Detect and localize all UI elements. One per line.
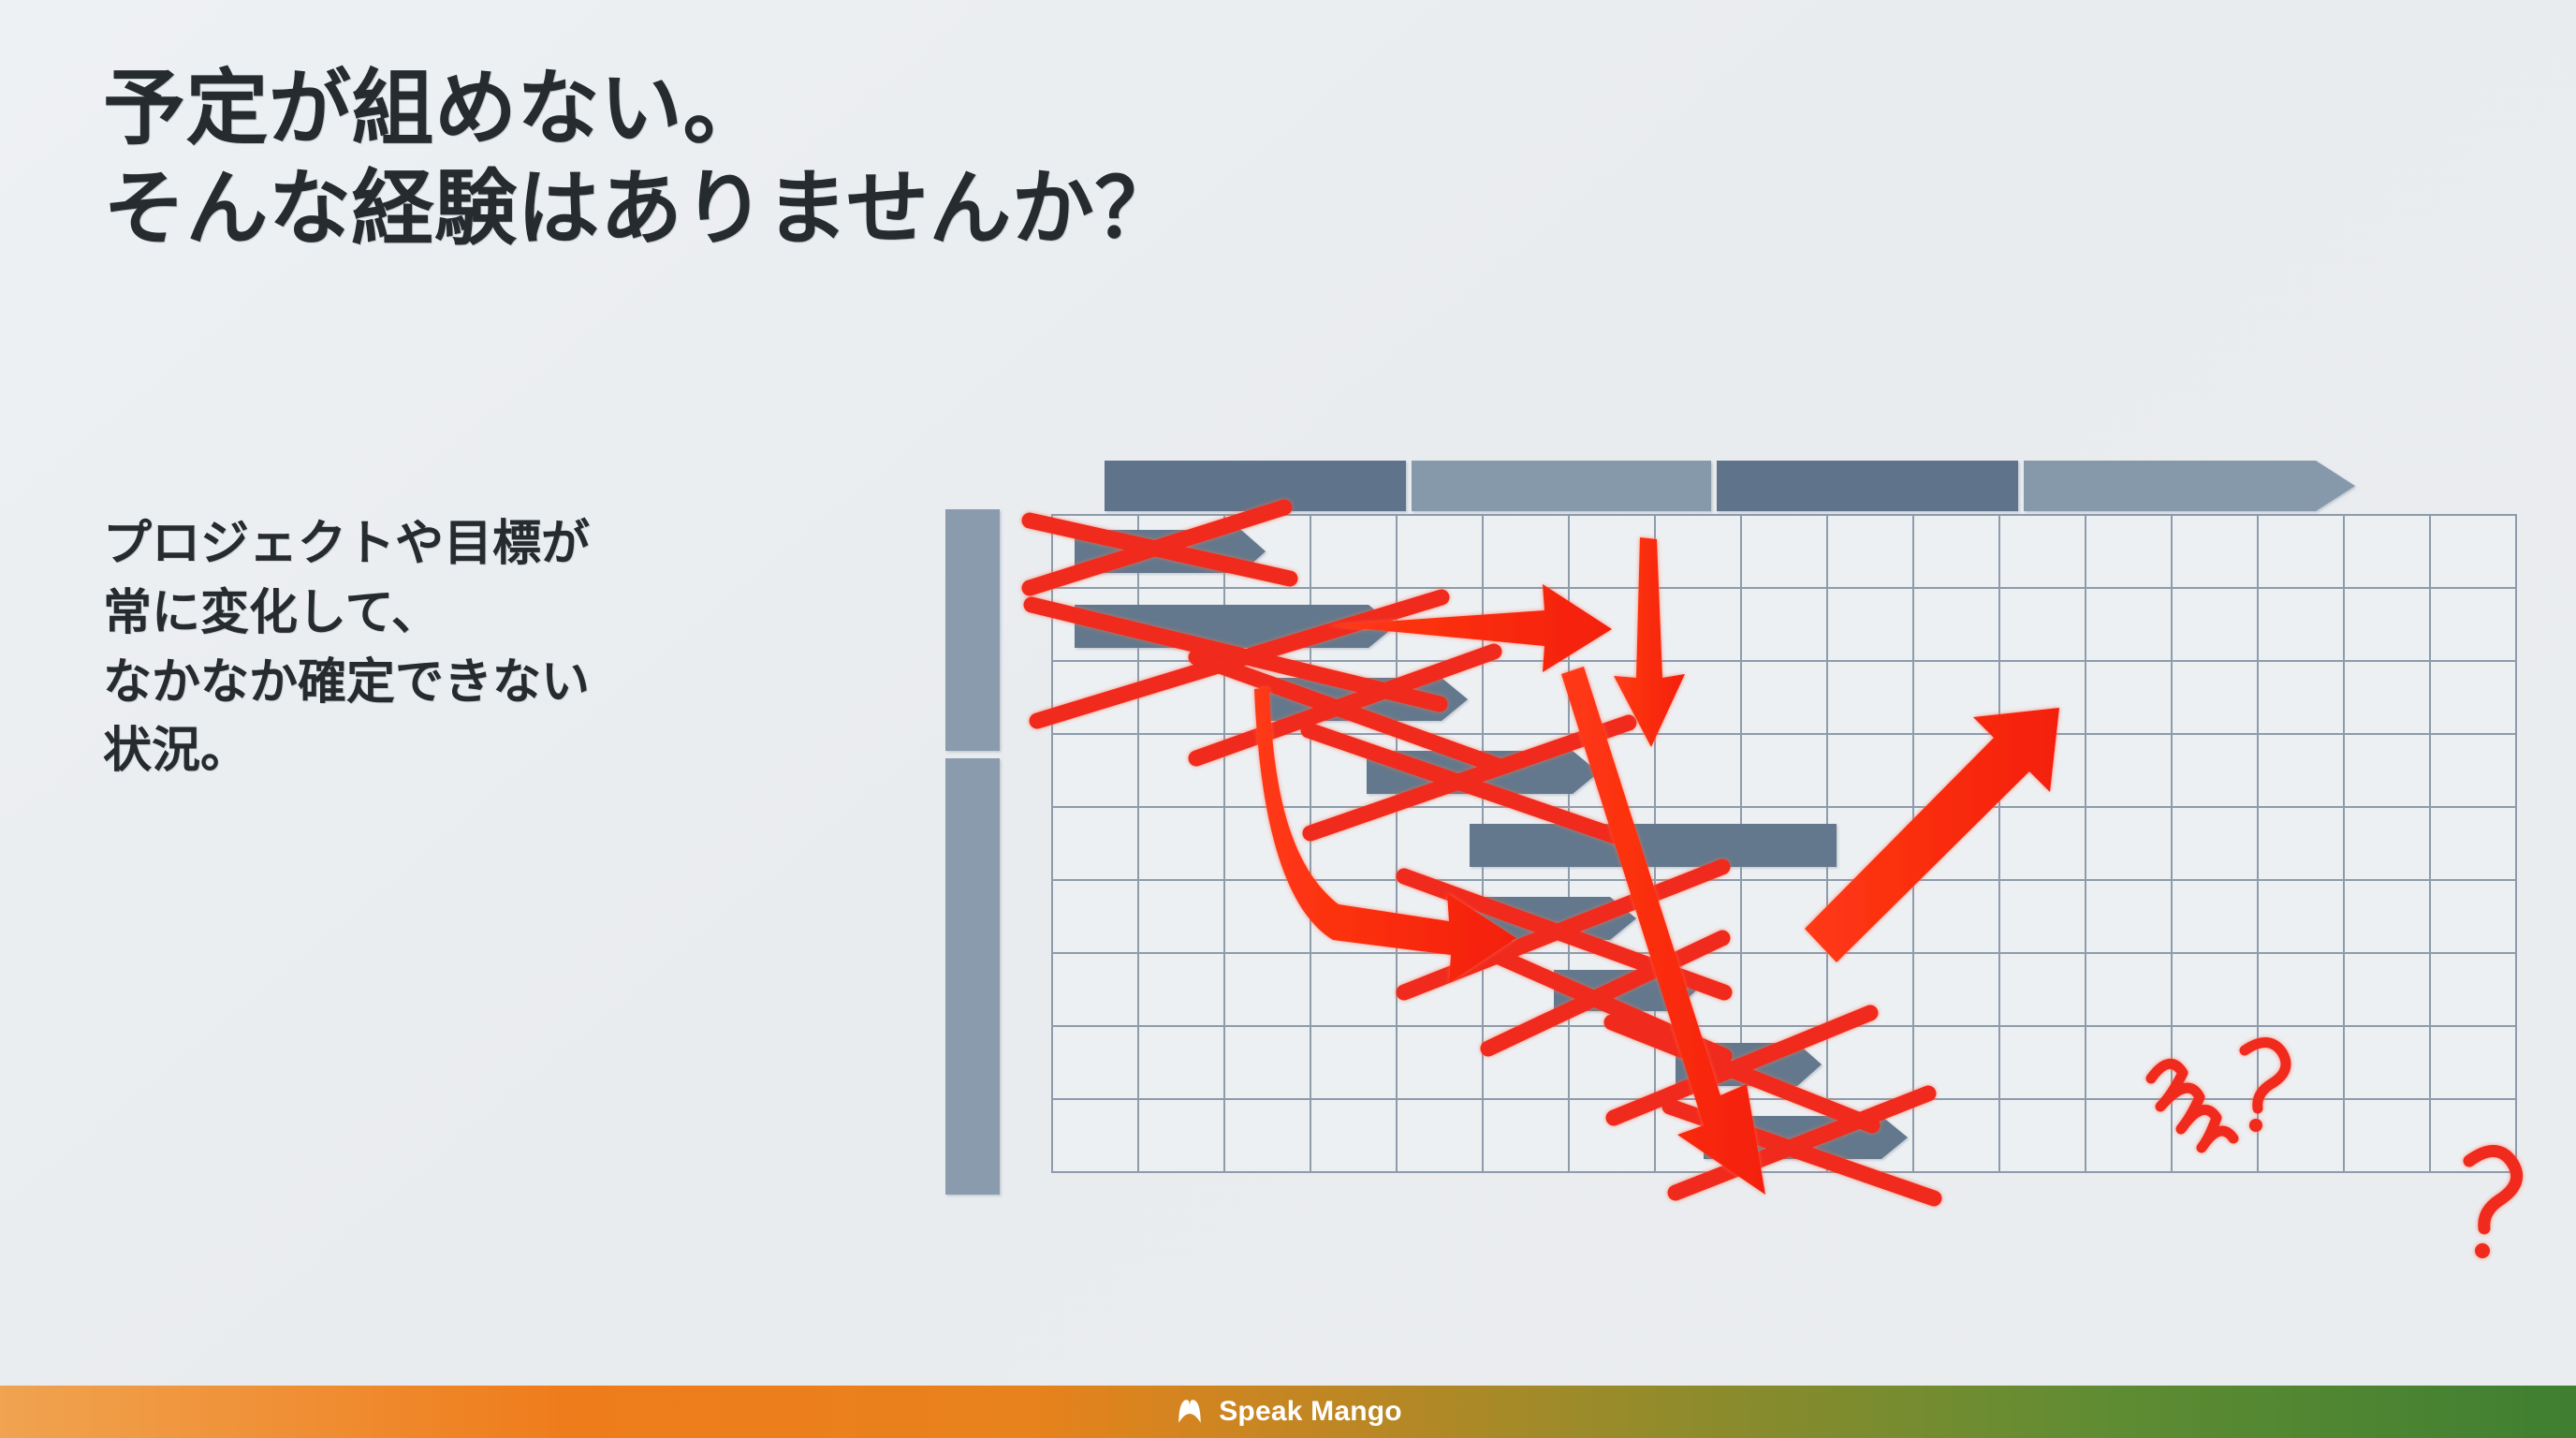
question-mark-dot: [2475, 1243, 2490, 1258]
scribble-question-dot: [2249, 1119, 2262, 1132]
gantt-header-row: [1105, 461, 2355, 511]
mango-m-logo-icon: [1174, 1396, 1206, 1428]
sidebar-block-1: [945, 509, 1000, 751]
footer-brand-bar: Speak Mango: [0, 1386, 2576, 1438]
header-segment-2: [1412, 461, 1711, 511]
slide-canvas: 予定が組めない。 そんな経験はありませんか？ プロジェクトや目標が 常に変化して…: [0, 0, 2576, 1438]
header-segment-3: [1717, 461, 2018, 511]
gantt-chart: [936, 449, 2576, 1311]
sidebar-block-2: [945, 758, 1000, 1195]
brand-label: Speak Mango: [1219, 1396, 1402, 1428]
gantt-sidebar: [945, 509, 1000, 1195]
gantt-svg: [936, 449, 2576, 1311]
task-bar-5: [1470, 824, 1837, 867]
header-segment-1: [1105, 461, 1406, 511]
page-title: 予定が組めない。 そんな経験はありませんか？: [103, 58, 1178, 259]
body-copy: プロジェクトや目標が 常に変化して、 なかなか確定できない 状況。: [103, 510, 590, 786]
header-segment-4: [2024, 461, 2355, 511]
